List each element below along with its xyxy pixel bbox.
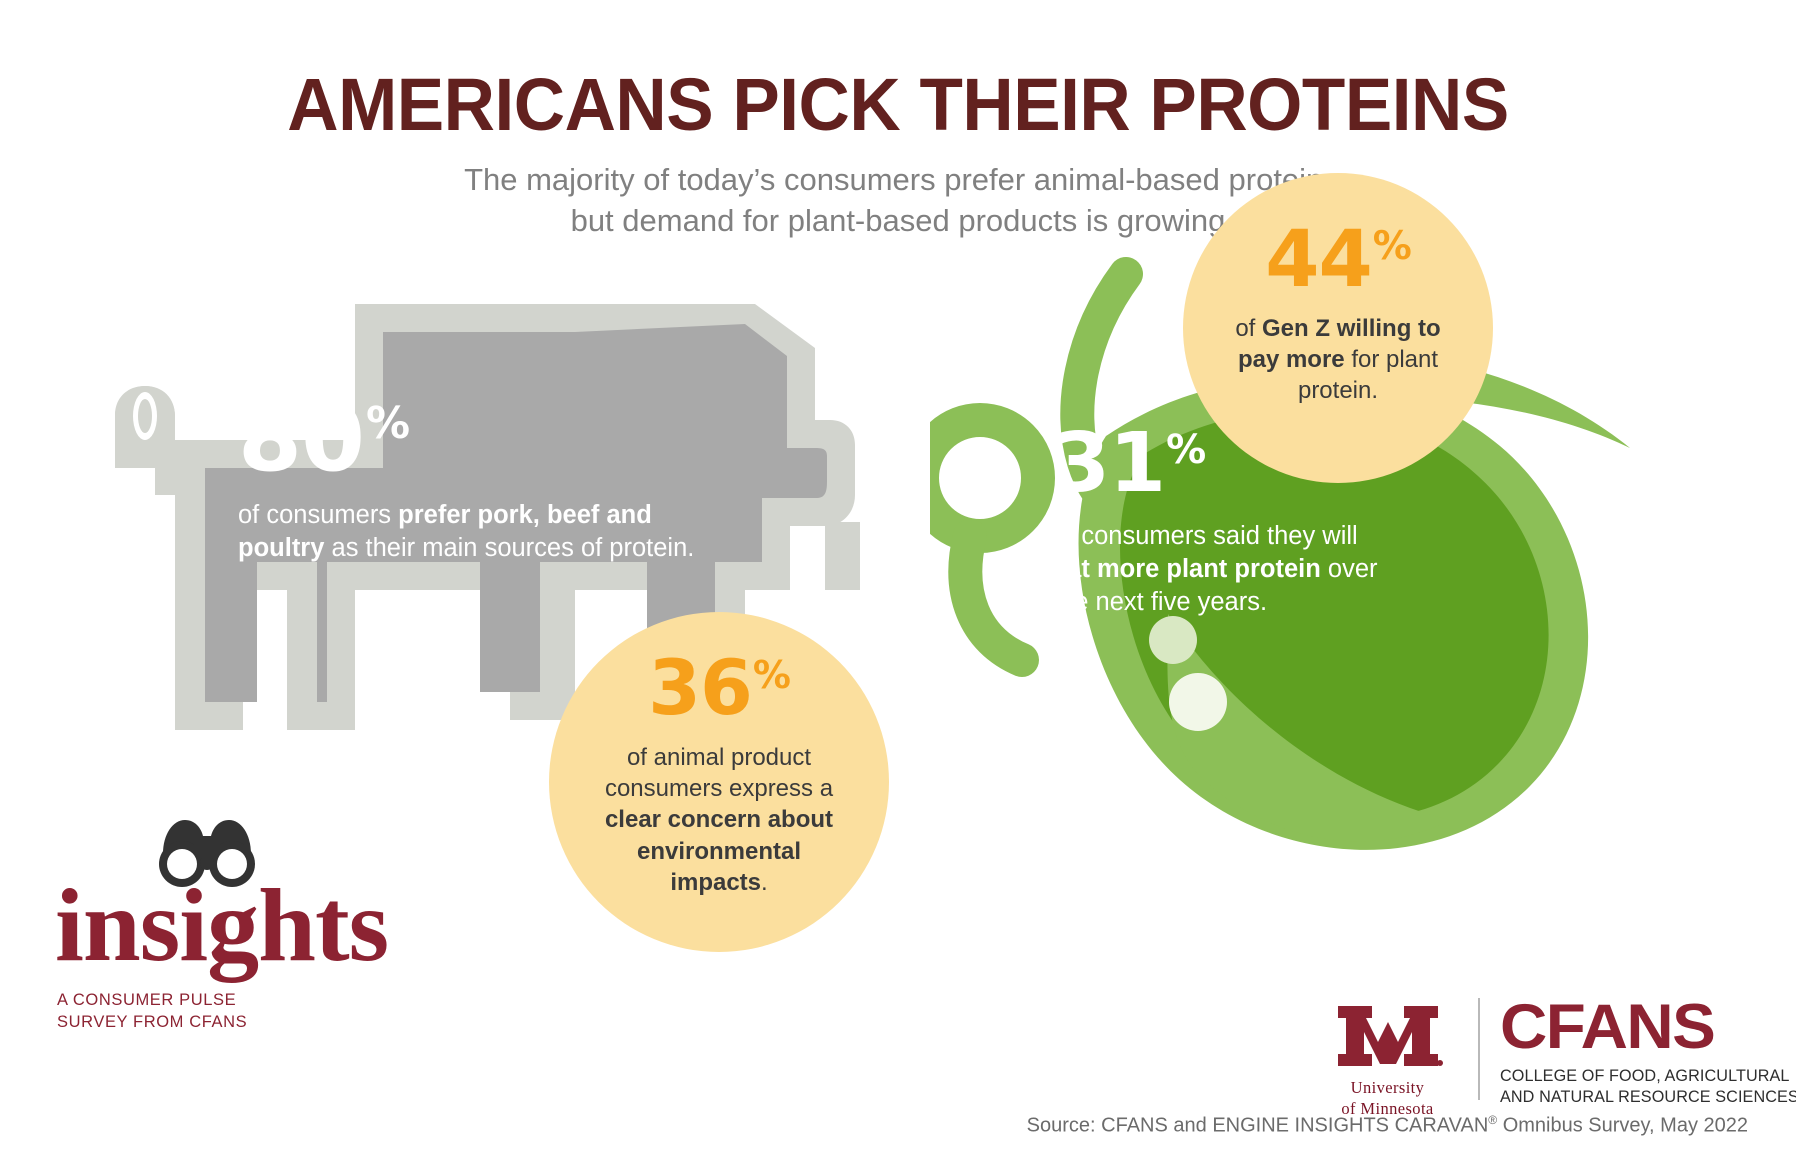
cfans-wordmark: CFANS — [1500, 996, 1760, 1059]
source-prefix: Source: CFANS and ENGINE INSIGHTS CARAVA… — [1027, 1115, 1489, 1137]
cfans-tagline-line-2: AND NATURAL RESOURCE SCIENCES — [1500, 1087, 1750, 1108]
stat-cow-value: 80% — [238, 395, 758, 482]
insights-tagline-line-1: A CONSUMER PULSE — [57, 990, 247, 1012]
stat-cow-description: of consumers prefer pork, beef and poult… — [238, 499, 708, 563]
source-registered-mark: ® — [1488, 1113, 1497, 1127]
insights-wordmark: insights — [55, 874, 388, 978]
block-M-icon — [1332, 1000, 1444, 1072]
page-subtitle: The majority of today’s consumers prefer… — [0, 160, 1796, 242]
insights-logo: insights A CONSUMER PULSE SURVEY FROM CF… — [55, 822, 425, 997]
stat-concern-value: 36% — [648, 650, 790, 726]
stat-genz: 44% of Gen Z willing to pay more for pla… — [1183, 173, 1493, 483]
stat-genz-value: 44% — [1265, 221, 1411, 299]
cfans-logo: CFANS COLLEGE OF FOOD, AGRICULTURAL AND … — [1500, 996, 1750, 1107]
infographic-canvas: AMERICANS PICK THEIR PROTEINS The majori… — [0, 0, 1796, 1167]
cfans-tagline: COLLEGE OF FOOD, AGRICULTURAL AND NATURA… — [1500, 1066, 1750, 1107]
stat-concern: 36% of animal product consumers express … — [549, 612, 889, 952]
umn-logo: University of Minnesota — [1320, 1000, 1455, 1119]
stat-pod-description: of consumers said they will eat more pla… — [1053, 520, 1398, 618]
umn-name-line-1: University — [1320, 1078, 1455, 1099]
stat-genz-description: of Gen Z willing to pay more for plant p… — [1216, 313, 1461, 407]
insights-tagline: A CONSUMER PULSE SURVEY FROM CFANS — [57, 990, 247, 1034]
source-suffix: Omnibus Survey, May 2022 — [1497, 1115, 1748, 1137]
source-note: Source: CFANS and ENGINE INSIGHTS CARAVA… — [1027, 1113, 1748, 1138]
insights-tagline-line-2: SURVEY FROM CFANS — [57, 1012, 247, 1034]
subtitle-line-1: The majority of today’s consumers prefer… — [0, 160, 1796, 201]
page-title: AMERICANS PICK THEIR PROTEINS — [36, 62, 1760, 147]
cfans-tagline-line-1: COLLEGE OF FOOD, AGRICULTURAL — [1500, 1066, 1750, 1087]
logo-divider — [1478, 998, 1480, 1100]
stat-cow: 80% of consumers prefer pork, beef and p… — [238, 395, 758, 564]
stat-concern-description: of animal product consumers express a cl… — [594, 742, 844, 898]
subtitle-line-2: but demand for plant-based products is g… — [0, 201, 1796, 242]
